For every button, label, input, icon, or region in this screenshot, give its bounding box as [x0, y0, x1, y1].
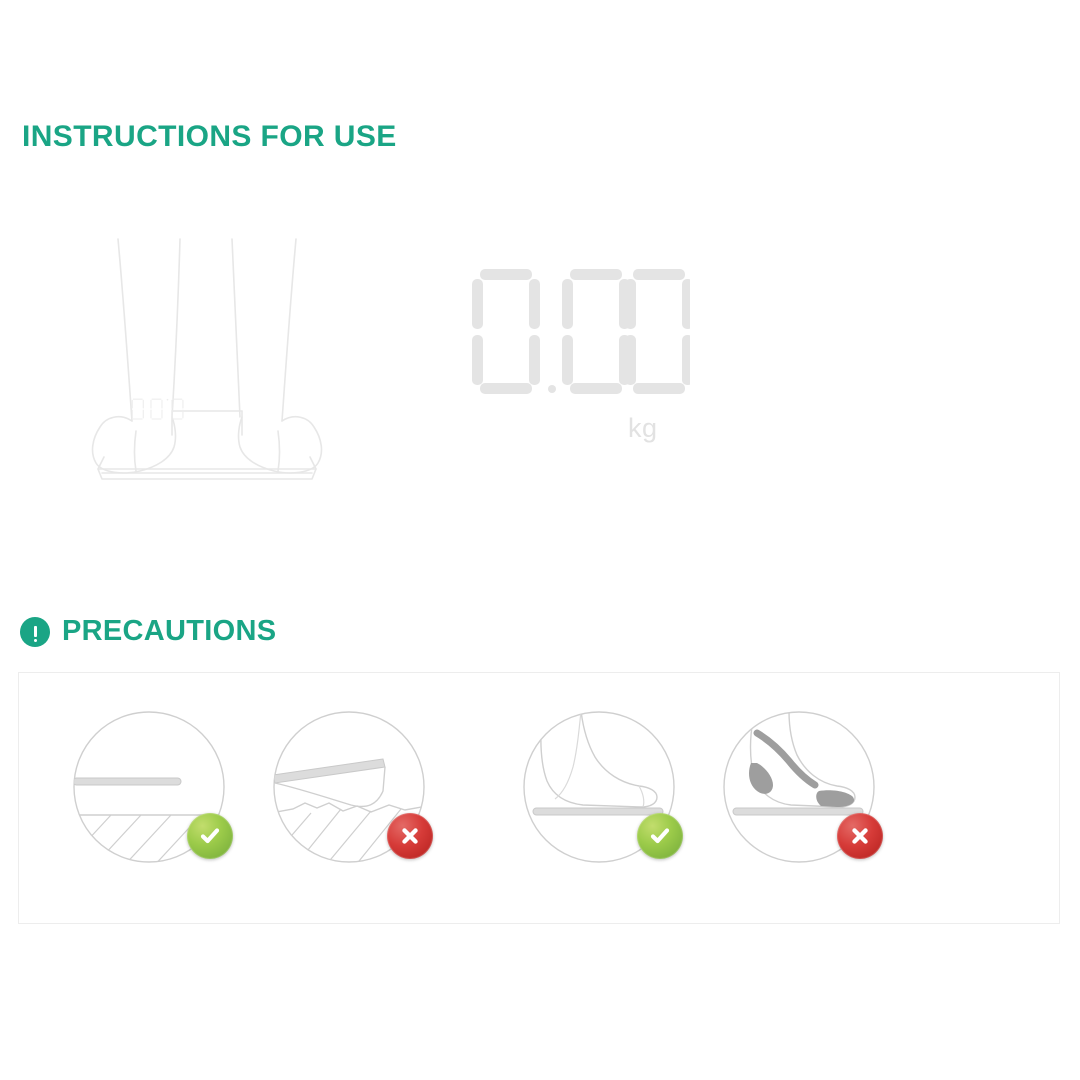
cross-circle-icon	[837, 813, 883, 859]
lcd-display-icon: kg	[470, 235, 720, 475]
precaution-item-bare-foot	[521, 709, 677, 865]
exclamation-circle-icon	[20, 617, 50, 647]
page-title-instructions: INSTRUCTIONS FOR USE	[22, 120, 397, 154]
cross-circle-icon	[387, 813, 433, 859]
page-title-precautions: PRECAUTIONS	[62, 615, 276, 648]
precautions-header: PRECAUTIONS	[20, 615, 276, 648]
instruction-step-2: kg	[470, 235, 720, 475]
lcd-unit-label: kg	[628, 413, 658, 444]
precaution-item-socked-foot	[721, 709, 877, 865]
check-circle-icon	[637, 813, 683, 859]
check-circle-icon	[187, 813, 233, 859]
precautions-panel	[18, 672, 1060, 924]
feet-standing-on-scale-icon	[80, 235, 340, 475]
precaution-item-soft-floor	[271, 709, 427, 865]
precaution-item-hard-floor	[71, 709, 227, 865]
instruction-step-1	[80, 235, 340, 475]
instruction-steps: kg Light feet standing on the scale Read…	[0, 235, 1080, 535]
